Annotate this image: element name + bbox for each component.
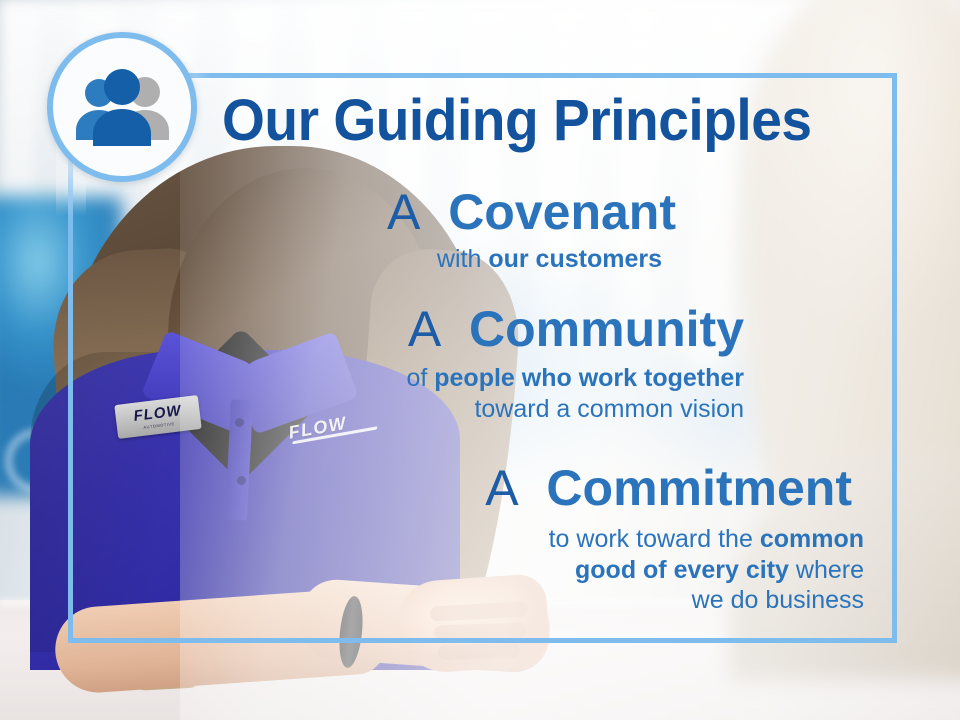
principle-body-line: of people who work together <box>0 363 744 394</box>
group-people-icon <box>70 68 174 146</box>
principle-body: with our customers <box>0 244 676 275</box>
page-title: Our Guiding Principles <box>222 92 830 150</box>
principle-body-line: toward a common vision <box>0 394 744 425</box>
principle-body-line: with our customers <box>0 244 662 275</box>
principle-article: A <box>485 460 532 516</box>
principle-body: of people who work together toward a com… <box>0 363 744 424</box>
principle-article: A <box>408 301 455 357</box>
principle-heading: A Covenant <box>0 186 676 238</box>
principle-body-line: we do business <box>0 585 864 616</box>
principle-article: A <box>387 184 434 240</box>
finger-line <box>434 622 526 640</box>
principle-covenant: A Covenant with our customers <box>0 186 676 275</box>
principle-commitment: A Commitment to work toward the common g… <box>0 462 872 616</box>
group-people-icon-badge <box>47 32 197 182</box>
principle-body-line: good of every city where <box>0 555 864 586</box>
principle-body-line: to work toward the common <box>0 524 864 555</box>
principle-body: to work toward the common good of every … <box>0 524 872 616</box>
poster: FLOW AUTOMOTIVE FLOW <box>0 0 960 720</box>
principle-community: A Community of people who work together … <box>0 303 744 424</box>
principle-heading: A Commitment <box>0 462 872 514</box>
finger-line <box>438 643 520 659</box>
principle-word: Covenant <box>448 184 676 240</box>
principle-word: Commitment <box>546 460 852 516</box>
principle-heading: A Community <box>0 303 744 355</box>
principle-word: Community <box>469 301 744 357</box>
